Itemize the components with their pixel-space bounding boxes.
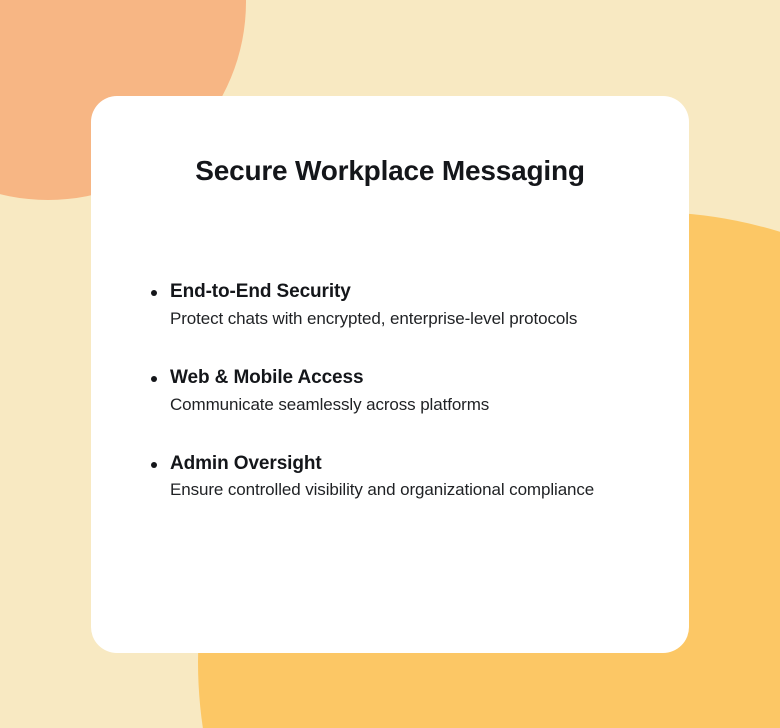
bullet-icon xyxy=(151,290,157,296)
page-title: Secure Workplace Messaging xyxy=(91,154,689,188)
list-item: Web & Mobile Access Communicate seamless… xyxy=(122,366,682,416)
slide-canvas: Secure Workplace Messaging End-to-End Se… xyxy=(0,0,780,728)
bullet-icon xyxy=(151,376,157,382)
feature-list: End-to-End Security Protect chats with e… xyxy=(122,280,682,502)
feature-heading: Web & Mobile Access xyxy=(170,366,682,390)
list-item: Admin Oversight Ensure controlled visibi… xyxy=(122,452,682,502)
feature-heading: Admin Oversight xyxy=(170,452,682,476)
bullet-icon xyxy=(151,462,157,468)
content-card: Secure Workplace Messaging End-to-End Se… xyxy=(91,96,689,653)
feature-description: Protect chats with encrypted, enterprise… xyxy=(170,308,682,330)
list-item: End-to-End Security Protect chats with e… xyxy=(122,280,682,330)
feature-description: Ensure controlled visibility and organiz… xyxy=(170,479,682,501)
feature-heading: End-to-End Security xyxy=(170,280,682,304)
feature-description: Communicate seamlessly across platforms xyxy=(170,394,682,416)
